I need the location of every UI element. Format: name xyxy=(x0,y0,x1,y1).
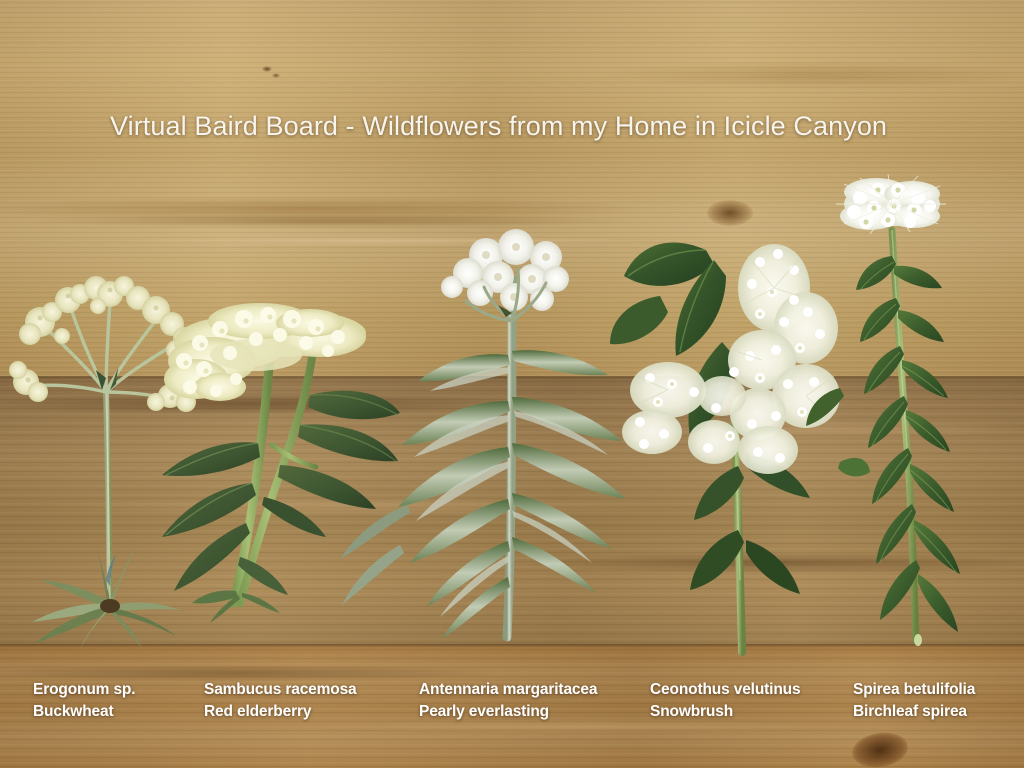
common-name: Red elderberry xyxy=(204,701,357,723)
wood-grain-streak xyxy=(0,196,660,222)
wood-knot-large xyxy=(850,729,911,768)
wood-plank-top xyxy=(0,0,1024,377)
scientific-name: Spirea betulifolia xyxy=(853,679,975,701)
wood-grain-streak xyxy=(120,236,640,246)
scientific-name: Erogonum sp. xyxy=(33,679,135,701)
wood-grain-streak xyxy=(600,60,1024,90)
common-name: Snowbrush xyxy=(650,701,800,723)
wood-grain-streak xyxy=(520,553,1024,573)
scientific-name: Sambucus racemosa xyxy=(204,679,357,701)
wood-grain-texture xyxy=(0,0,1024,377)
specimen-label-birchleaf-spirea: Spirea betulifolia Birchleaf spirea xyxy=(853,679,975,723)
wood-knot xyxy=(707,200,753,226)
common-name: Birchleaf spirea xyxy=(853,701,975,723)
scientific-name: Ceonothus velutinus xyxy=(650,679,800,701)
common-name: Buckwheat xyxy=(33,701,135,723)
wood-knot xyxy=(272,73,280,78)
common-name: Pearly everlasting xyxy=(419,701,597,723)
specimen-label-snowbrush: Ceonothus velutinus Snowbrush xyxy=(650,679,800,723)
wood-grain-texture xyxy=(0,377,1024,645)
wood-knot xyxy=(262,66,272,72)
wood-plank-middle xyxy=(0,377,1024,645)
wildflower-board: Virtual Baird Board - Wildflowers from m… xyxy=(0,0,1024,768)
wood-grain-streak xyxy=(20,214,640,228)
wood-grain-streak xyxy=(0,393,530,415)
specimen-label-pearly-everlasting: Antennaria margaritacea Pearly everlasti… xyxy=(419,679,597,723)
scientific-name: Antennaria margaritacea xyxy=(419,679,597,701)
specimen-label-red-elderberry: Sambucus racemosa Red elderberry xyxy=(204,679,357,723)
board-title: Virtual Baird Board - Wildflowers from m… xyxy=(110,111,887,142)
wood-grain-streak xyxy=(620,421,1024,437)
specimen-label-buckwheat: Erogonum sp. Buckwheat xyxy=(33,679,135,723)
wood-grain-streak xyxy=(40,497,680,515)
